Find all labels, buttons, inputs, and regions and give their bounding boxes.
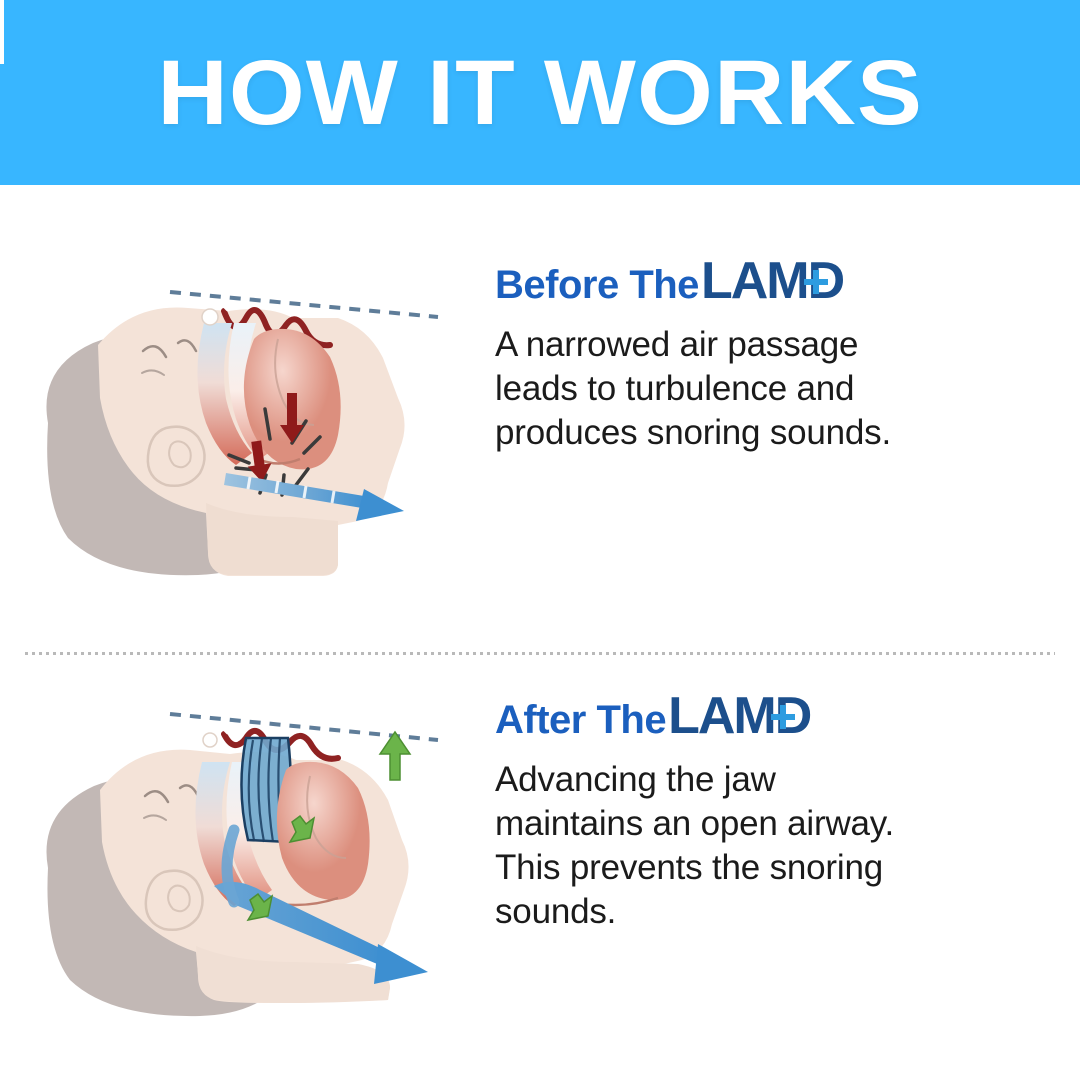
header-banner: HOW IT WORKS	[0, 0, 1080, 185]
text-column-before: Before The Snoring LAMD A narrowed air p…	[478, 255, 1080, 455]
heading-before-label: Before The	[495, 265, 699, 305]
brand-logo-before: Snoring LAMD	[701, 255, 843, 307]
body-text-before: A narrowed air passage leads to turbulen…	[495, 323, 895, 455]
illustration-before-container	[0, 255, 478, 635]
section-divider	[25, 652, 1055, 655]
illustration-after-container	[0, 690, 478, 1050]
text-column-after: After The Snoring LAMD Advancing the jaw…	[478, 690, 1080, 934]
brand-logo-text: LAMD	[668, 687, 810, 745]
section-heading-before: Before The Snoring LAMD	[495, 255, 1040, 317]
narrowed-airway-diagram	[38, 273, 448, 583]
section-before: Before The Snoring LAMD A narrowed air p…	[0, 255, 1080, 635]
heading-after-label: After The	[495, 700, 666, 740]
open-airway-diagram	[38, 700, 448, 1020]
brand-logo-text: LAMD	[701, 252, 843, 310]
page-title: HOW IT WORKS	[157, 47, 923, 139]
section-heading-after: After The Snoring LAMD	[495, 690, 1040, 752]
section-after: After The Snoring LAMD Advancing the jaw…	[0, 690, 1080, 1050]
body-text-after: Advancing the jaw maintains an open airw…	[495, 758, 905, 934]
brand-logo-after: Snoring LAMD	[668, 690, 810, 742]
